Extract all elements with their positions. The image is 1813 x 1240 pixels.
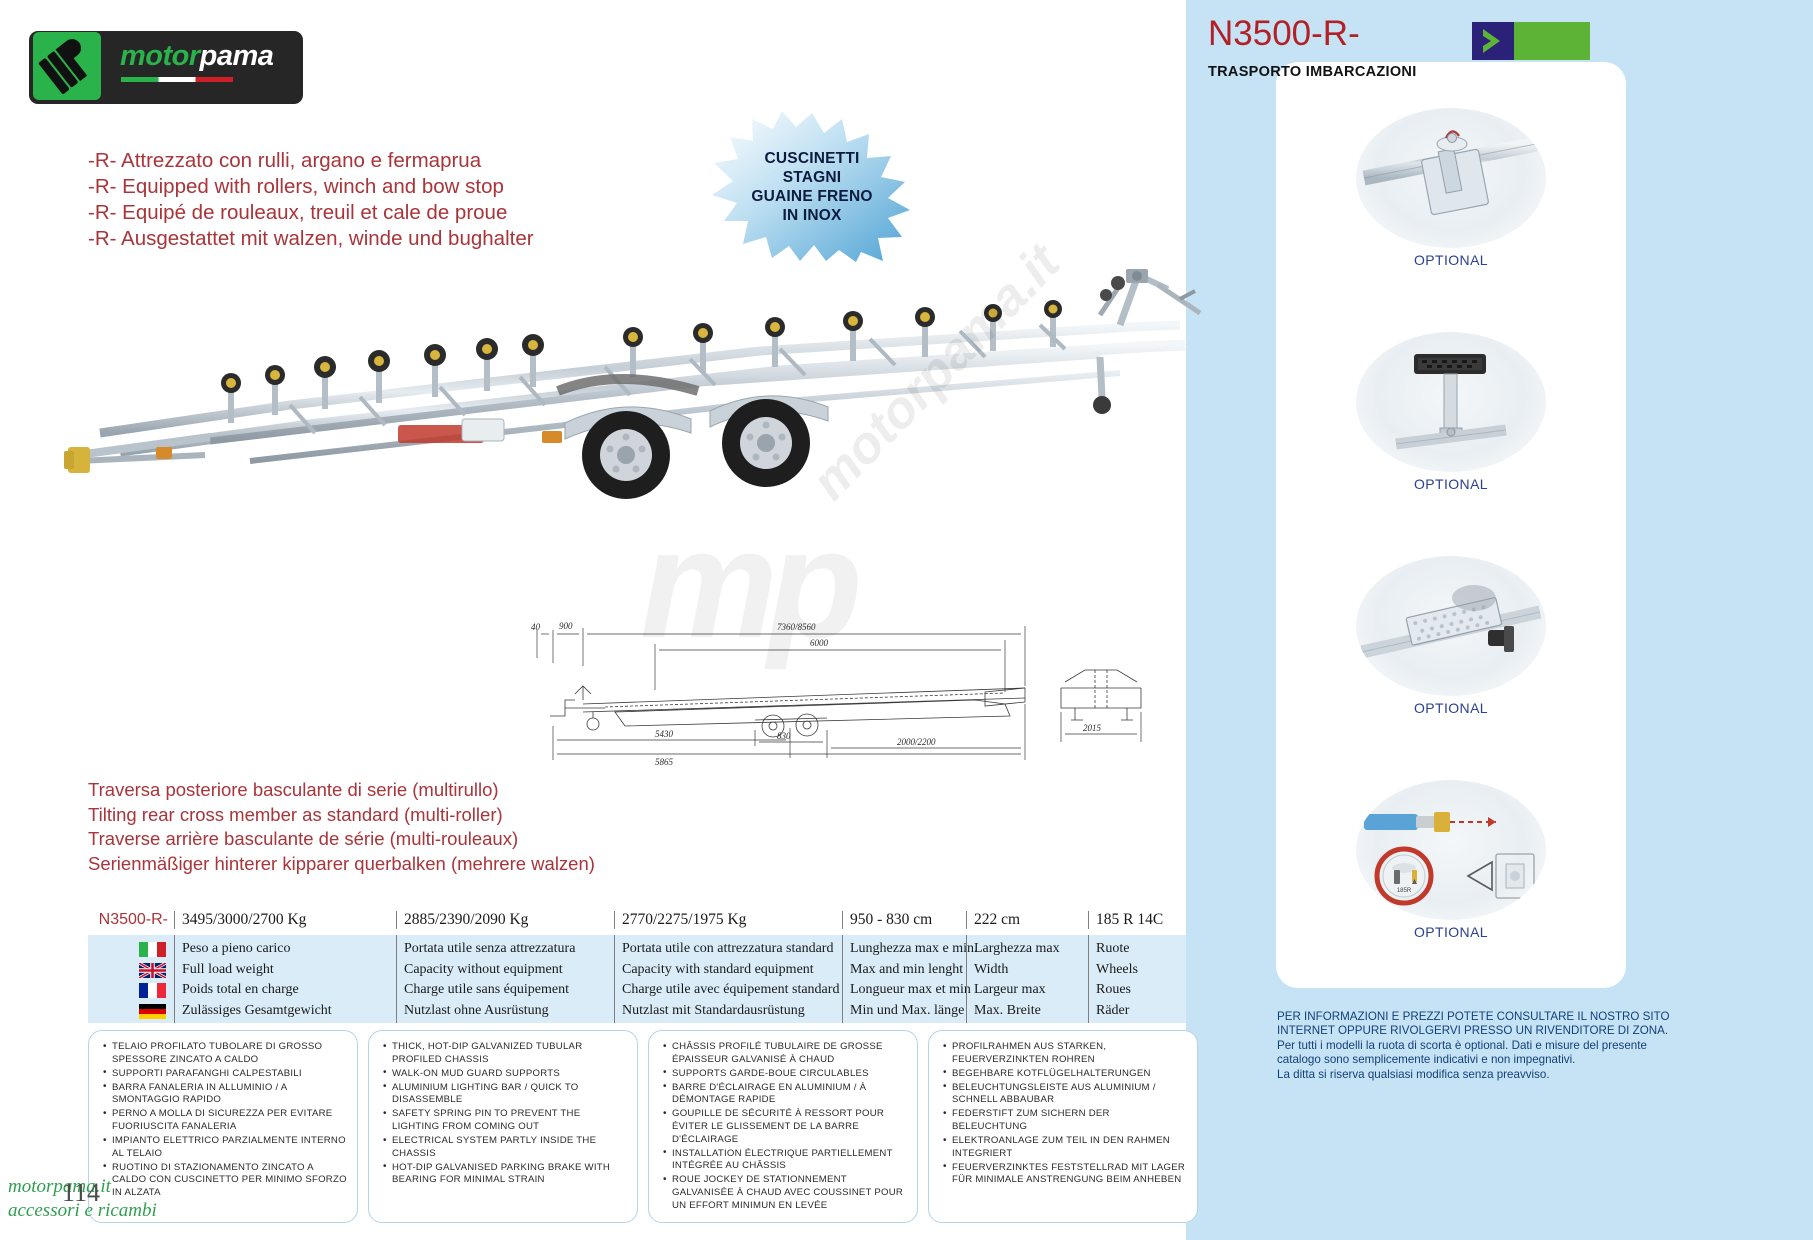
language-flag-column [88,935,174,1023]
label-it: Lunghezza max e min. [850,939,966,960]
spec-labels-width: Larghezza max Width Largeur max Max. Bre… [966,935,1088,1023]
walkway-plate-photo [1356,556,1546,696]
dim-830: 830 [777,731,791,741]
label-fr: Charge utile sans équipement [404,980,614,1001]
italian-flag-underline [121,77,233,82]
list-item: HOT-DIP GALVANISED PARKING BRAKE WITH BE… [383,1162,627,1187]
list-item: ELEKTROANLAGE ZUM TEIL IN DEN RAHMEN INT… [943,1135,1187,1160]
label-fr: Largeur max [974,980,1088,1001]
page-title: N3500-R- [1208,14,1360,54]
badge-text: CUSCINETTI STAGNI GUAINE FRENO IN INOX [706,111,918,263]
step-platform-photo [1356,332,1546,472]
badge-line-4: IN INOX [782,206,841,225]
label-de: Nutzlast ohne Ausrüstung [404,1001,614,1022]
list-item: WALK-ON MUD GUARD SUPPORTS [383,1068,627,1081]
roller-bracket-photo [1356,108,1546,248]
label-en: Width [974,960,1088,981]
list-item: THICK, HOT-DIP GALVANIZED TUBULAR PROFIL… [383,1041,627,1066]
label-de: Nutzlast mit Standardausrüstung [622,1001,842,1022]
list-item: SUPPORTS GARDE-BOUE CIRCULABLES [663,1068,907,1081]
list-item: FEDERSTIFT ZUM SICHERN DER BELEUCHTUNG [943,1108,1187,1133]
list-item: INSTALLATION ÉLECTRIQUE PARTIELLEMENT IN… [663,1148,907,1173]
chevron-right-icon [1472,22,1514,60]
logo-wordmark: motorpama [120,42,273,71]
dim-7360-8560: 7360/8560 [777,622,816,632]
tilting-note-en: Tilting rear cross member as standard (m… [88,803,595,828]
headline-it: -R- Attrezzato con rulli, argano e ferma… [88,148,534,174]
list-item: BELEUCHTUNGSLEISTE AUS ALUMINIUM / SCHNE… [943,1082,1187,1107]
spec-value-length: 950 - 830 cm [842,911,966,929]
headline-fr: -R- Equipé de rouleaux, treuil et cale d… [88,200,534,226]
spec-value-capacity-no-equip: 2885/2390/2090 Kg [396,911,614,929]
optional-label: OPTIONAL [1290,924,1612,940]
label-en: Full load weight [182,960,396,981]
optional-item-1: OPTIONAL [1290,108,1612,268]
page-number: 114 [62,1178,100,1208]
logo-word-motor: motor [120,40,200,72]
disclaimer-line-1: PER INFORMAZIONI E PREZZI POTETE CONSULT… [1277,1010,1697,1024]
optional-label: OPTIONAL [1290,476,1612,492]
list-item: FEUERVERZINKTES FESTSTELLRAD MIT LAGER F… [943,1162,1187,1187]
flag-germany-icon [139,1004,166,1019]
product-photo-trailer [60,255,1220,515]
spec-labels-full-load: Peso a pieno carico Full load weight Poi… [174,935,396,1023]
spec-value-full-load: 3495/3000/2700 Kg [174,911,396,929]
logo-mark-icon [33,32,101,100]
spec-labels-row: Peso a pieno carico Full load weight Poi… [88,935,1186,1023]
disclaimer-line-3: Per tutti i modelli la ruota di scorta è… [1277,1039,1697,1053]
label-it: Portata utile con attrezzatura standard [622,939,842,960]
logo-word-pama: pama [200,40,274,72]
tilting-note-fr: Traverse arrière basculante de série (mu… [88,827,595,852]
label-de: Max. Breite [974,1001,1088,1022]
spec-value-capacity-std-equip: 2770/2275/1975 Kg [614,911,842,929]
headline-block: -R- Attrezzato con rulli, argano e ferma… [88,148,534,252]
list-item: SUPPORTI PARAFANGHI CALPESTABILI [103,1068,347,1081]
specification-table: N3500-R- 3495/3000/2700 Kg 2885/2390/209… [88,905,1186,1023]
dim-40: 40 [531,622,541,632]
svg-text:185R: 185R [1397,888,1412,894]
list-item: IMPIANTO ELETTRICO PARZIALMENTE INTERNO … [103,1135,347,1160]
flag-france-icon [139,983,166,998]
spec-model-label: N3500-R- [88,911,174,929]
list-item: BARRE D'ÉCLAIRAGE EN ALUMINIUM / À DÉMON… [663,1082,907,1107]
label-fr: Charge utile avec équipement standard [622,980,842,1001]
flag-uk-icon [139,963,166,978]
list-item: ROUE JOCKEY DE STATIONNEMENT GALVANISÉE … [663,1174,907,1212]
list-item: CHÂSSIS PROFILÉ TUBULAIRE DE GROSSE ÉPAI… [663,1041,907,1066]
label-en: Wheels [1096,960,1186,981]
spare-wheel-kit-photo: 185R [1356,780,1546,920]
disclaimer-line-5: La ditta si riserva qualsiasi modifica s… [1277,1068,1697,1082]
label-de: Min und Max. länge [850,1001,966,1022]
spec-value-width: 222 cm [966,911,1088,929]
badge-line-3: GUAINE FRENO [751,187,872,206]
label-en: Capacity with standard equipment [622,960,842,981]
optional-label: OPTIONAL [1290,700,1612,716]
spec-value-wheels: 185 R 14C [1088,911,1186,929]
optional-item-4: 185R OPTIONAL [1290,780,1612,940]
badge-line-1: CUSCINETTI [765,149,860,168]
label-en: Capacity without equipment [404,960,614,981]
list-item: ALUMINIUM LIGHTING BAR / QUICK TO DISASS… [383,1082,627,1107]
disclaimer-line-2: INTERNET OPPURE RIVOLGERVI PRESSO UN RIV… [1277,1024,1697,1038]
label-de: Räder [1096,1001,1186,1022]
dim-900: 900 [559,621,573,631]
spec-values-row: N3500-R- 3495/3000/2700 Kg 2885/2390/209… [88,905,1186,935]
list-item: ELECTRICAL SYSTEM PARTLY INSIDE THE CHAS… [383,1135,627,1160]
feature-box-en: THICK, HOT-DIP GALVANIZED TUBULAR PROFIL… [368,1030,638,1223]
list-item: SAFETY SPRING PIN TO PREVENT THE LIGHTIN… [383,1108,627,1133]
headline-en: -R- Equipped with rollers, winch and bow… [88,174,534,200]
disclaimer-line-4: catalogo sono semplicemente indicativi e… [1277,1053,1697,1067]
headline-de: -R- Ausgestattet mit walzen, winde und b… [88,226,534,252]
optional-label: OPTIONAL [1290,252,1612,268]
spec-labels-wheels: Ruote Wheels Roues Räder [1088,935,1186,1023]
dim-6000: 6000 [810,638,829,648]
list-item: BARRA FANALERIA IN ALLUMINIO / A SMONTAG… [103,1082,347,1107]
label-fr: Poids total en charge [182,980,396,1001]
list-item: BEGEHBARE KOTFLÜGELHALTERUNGEN [943,1068,1187,1081]
feature-box-fr: CHÂSSIS PROFILÉ TUBULAIRE DE GROSSE ÉPAI… [648,1030,918,1223]
page-subtitle: TRASPORTO IMBARCAZIONI [1208,64,1417,80]
technical-drawing: 40 900 7360/8560 6000 5430 5865 830 2000… [505,608,1195,793]
label-it: Peso a pieno carico [182,939,396,960]
dim-5430: 5430 [655,729,674,739]
flag-italy-icon [139,942,166,957]
dim-5865: 5865 [655,757,674,767]
spec-labels-length: Lunghezza max e min. Max and min lenght … [842,935,966,1023]
feature-badge: CUSCINETTI STAGNI GUAINE FRENO IN INOX [706,111,918,263]
green-bar-accent [1514,22,1590,60]
label-it: Larghezza max [974,939,1088,960]
dim-2000-2200: 2000/2200 [897,737,936,747]
disclaimer-block: PER INFORMAZIONI E PREZZI POTETE CONSULT… [1277,1010,1697,1082]
spec-labels-capacity-std-equip: Portata utile con attrezzatura standard … [614,935,842,1023]
list-item: PERNO A MOLLA DI SICUREZZA PER EVITARE F… [103,1108,347,1133]
list-item: TELAIO PROFILATO TUBOLARE DI GROSSO SPES… [103,1041,347,1066]
label-it: Ruote [1096,939,1186,960]
label-de: Zulässiges Gesamtgewicht [182,1001,396,1022]
tilting-note-de: Serienmäßiger hinterer kipparer querbalk… [88,852,595,877]
spec-labels-capacity-no-equip: Portata utile senza attrezzatura Capacit… [396,935,614,1023]
catalog-page: N3500-R- TRASPORTO IMBARCAZIONI [0,0,1813,1240]
feature-boxes: TELAIO PROFILATO TUBOLARE DI GROSSO SPES… [88,1030,1198,1223]
badge-line-2: STAGNI [783,168,842,187]
list-item: PROFILRAHMEN AUS STARKEN, FEUERVERZINKTE… [943,1041,1187,1066]
label-en: Max and min lenght [850,960,966,981]
feature-box-de: PROFILRAHMEN AUS STARKEN, FEUERVERZINKTE… [928,1030,1198,1223]
list-item: GOUPILLE DE SÉCURITÉ À RESSORT POUR ÉVIT… [663,1108,907,1146]
dim-2015: 2015 [1083,723,1102,733]
optional-item-3: OPTIONAL [1290,556,1612,716]
label-fr: Roues [1096,980,1186,1001]
label-fr: Longueur max et min [850,980,966,1001]
label-it: Portata utile senza attrezzatura [404,939,614,960]
optional-item-2: OPTIONAL [1290,332,1612,492]
